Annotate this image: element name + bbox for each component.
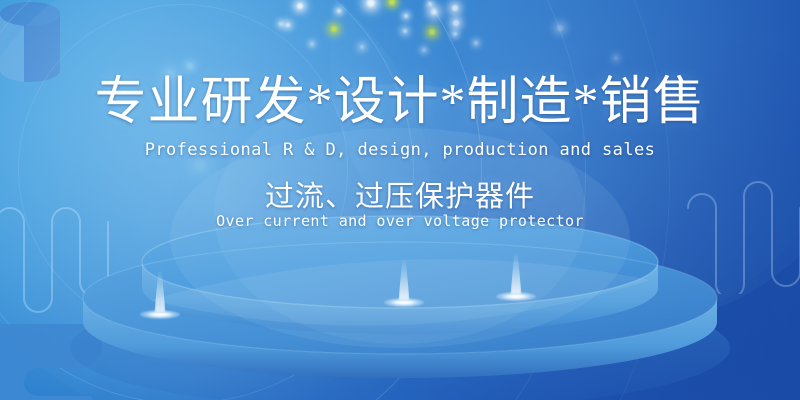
subheadline-english: Over current and over voltage protector [0,212,800,231]
promo-banner: 专业研发*设计*制造*销售 Professional R & D, design… [0,0,800,400]
subheadline-chinese: 过流、过压保护器件 [0,180,800,214]
headline-english: Professional R & D, design, production a… [0,140,800,161]
banner-copy: 专业研发*设计*制造*销售 Professional R & D, design… [0,0,800,400]
headline-chinese: 专业研发*设计*制造*销售 [0,74,800,132]
